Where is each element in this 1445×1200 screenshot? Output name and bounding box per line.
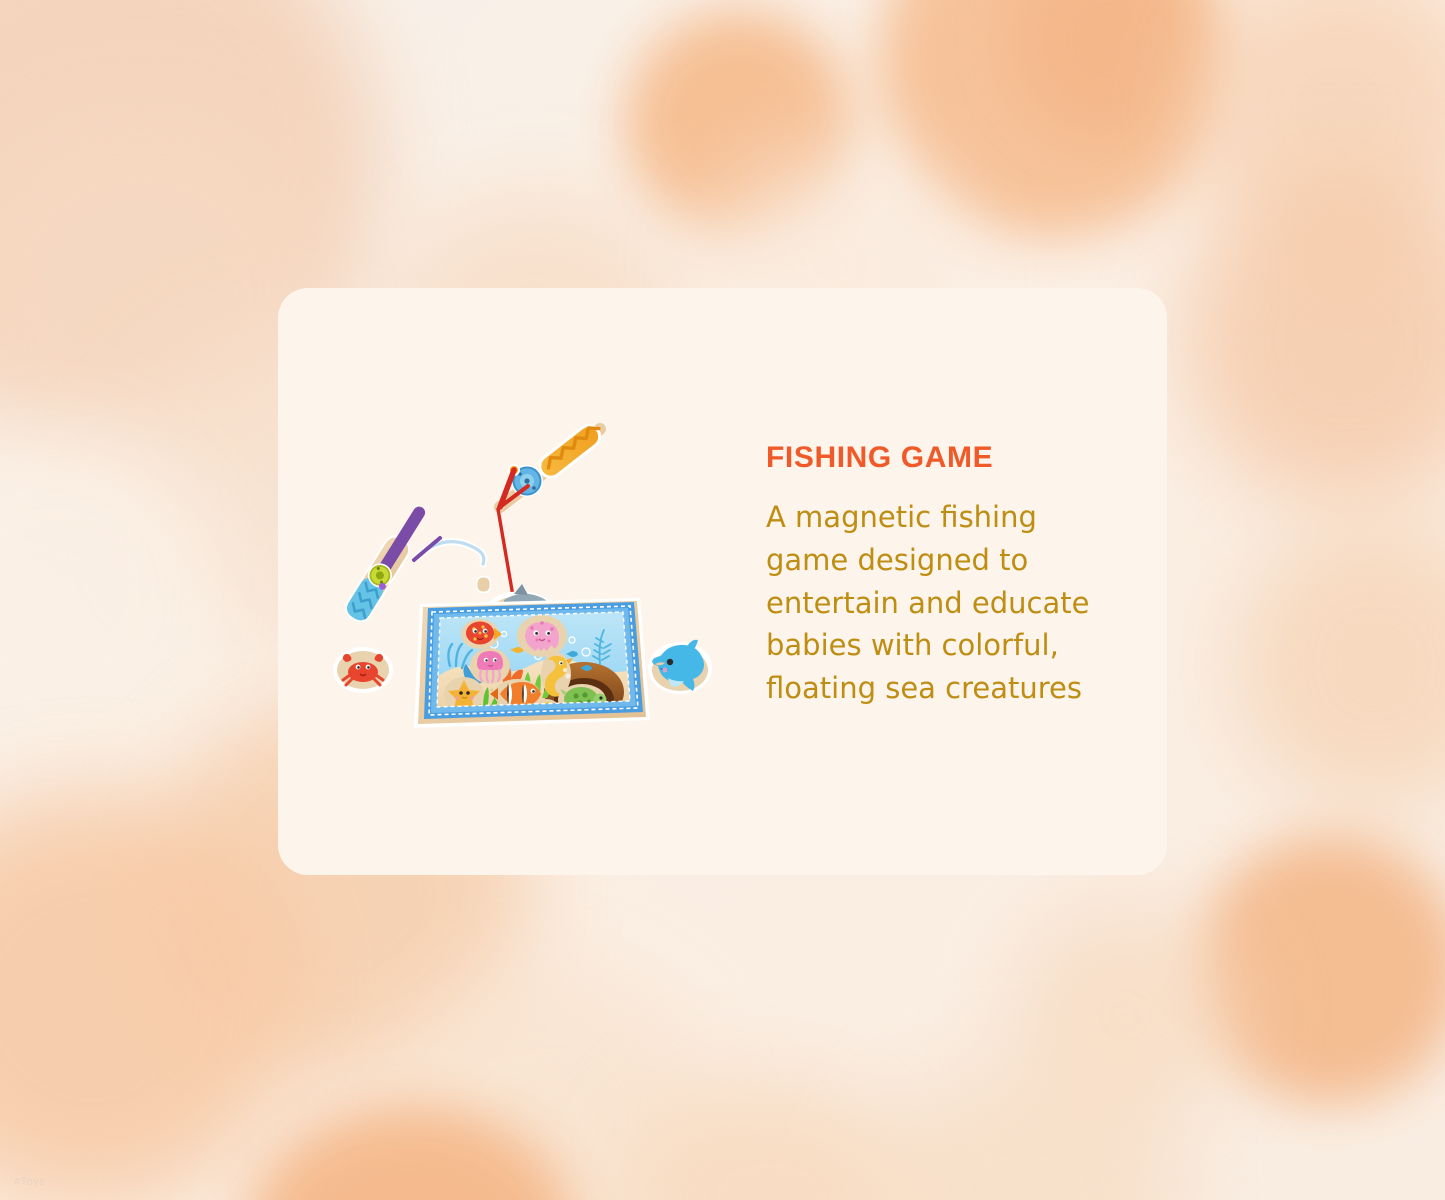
product-text-block: FISHING GAME A magnetic fishing game des… — [728, 441, 1167, 711]
bokeh-circle — [1195, 835, 1445, 1105]
page-stage: FISHING GAME A magnetic fishing game des… — [0, 0, 1445, 1200]
bokeh-circle — [1235, 520, 1445, 810]
orange-fishing-rod — [498, 419, 606, 601]
background-watermark: #Toys — [14, 1176, 45, 1188]
piece-jellyfish — [470, 648, 510, 684]
fishing-board — [414, 598, 650, 728]
crab-piece — [333, 647, 393, 693]
product-description: A magnetic fishing game designed to ente… — [766, 496, 1127, 711]
product-card[interactable]: FISHING GAME A magnetic fishing game des… — [278, 288, 1167, 875]
page-title: FISHING GAME — [766, 441, 1127, 474]
dolphin-piece — [648, 639, 712, 693]
bokeh-circle — [1185, 175, 1445, 505]
product-image — [328, 412, 728, 752]
piece-octopus — [517, 615, 567, 657]
